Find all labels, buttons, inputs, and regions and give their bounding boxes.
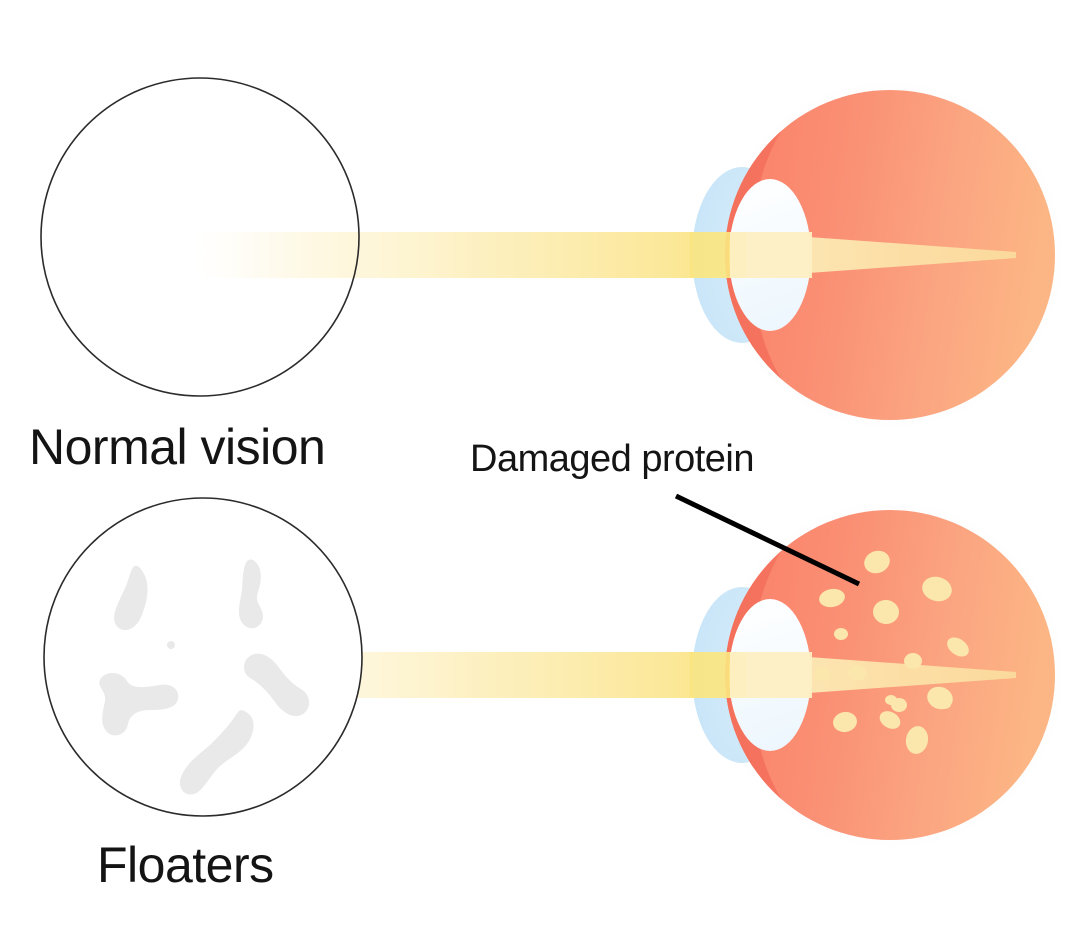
- beam-through-lens-floaters: [690, 652, 812, 698]
- panel-normal-vision: [41, 75, 1070, 435]
- vision-field-normal: [41, 78, 359, 396]
- panel-floaters: [44, 495, 1070, 855]
- damaged-protein-spot-15: [891, 698, 907, 712]
- eye-floaters-diagram: Normal vision Floaters Damaged protein: [0, 0, 1080, 939]
- damaged-protein-spot-8: [814, 667, 830, 681]
- beam-through-lens-normal: [690, 232, 812, 278]
- damaged-protein-spot-9: [848, 665, 866, 681]
- damaged-protein-spot-13: [940, 698, 950, 706]
- damaged-protein-spot-5: [834, 628, 848, 640]
- vision-circle-outline: [41, 78, 359, 396]
- label-floaters: Floaters: [97, 836, 274, 894]
- damaged-protein-spot-7: [904, 653, 922, 669]
- vision-field-floaters: [44, 498, 362, 816]
- label-normal-vision: Normal vision: [29, 418, 325, 476]
- floater-dot-center: [167, 641, 175, 649]
- label-damaged-protein: Damaged protein: [470, 438, 754, 481]
- damaged-protein-spot-12: [931, 691, 941, 699]
